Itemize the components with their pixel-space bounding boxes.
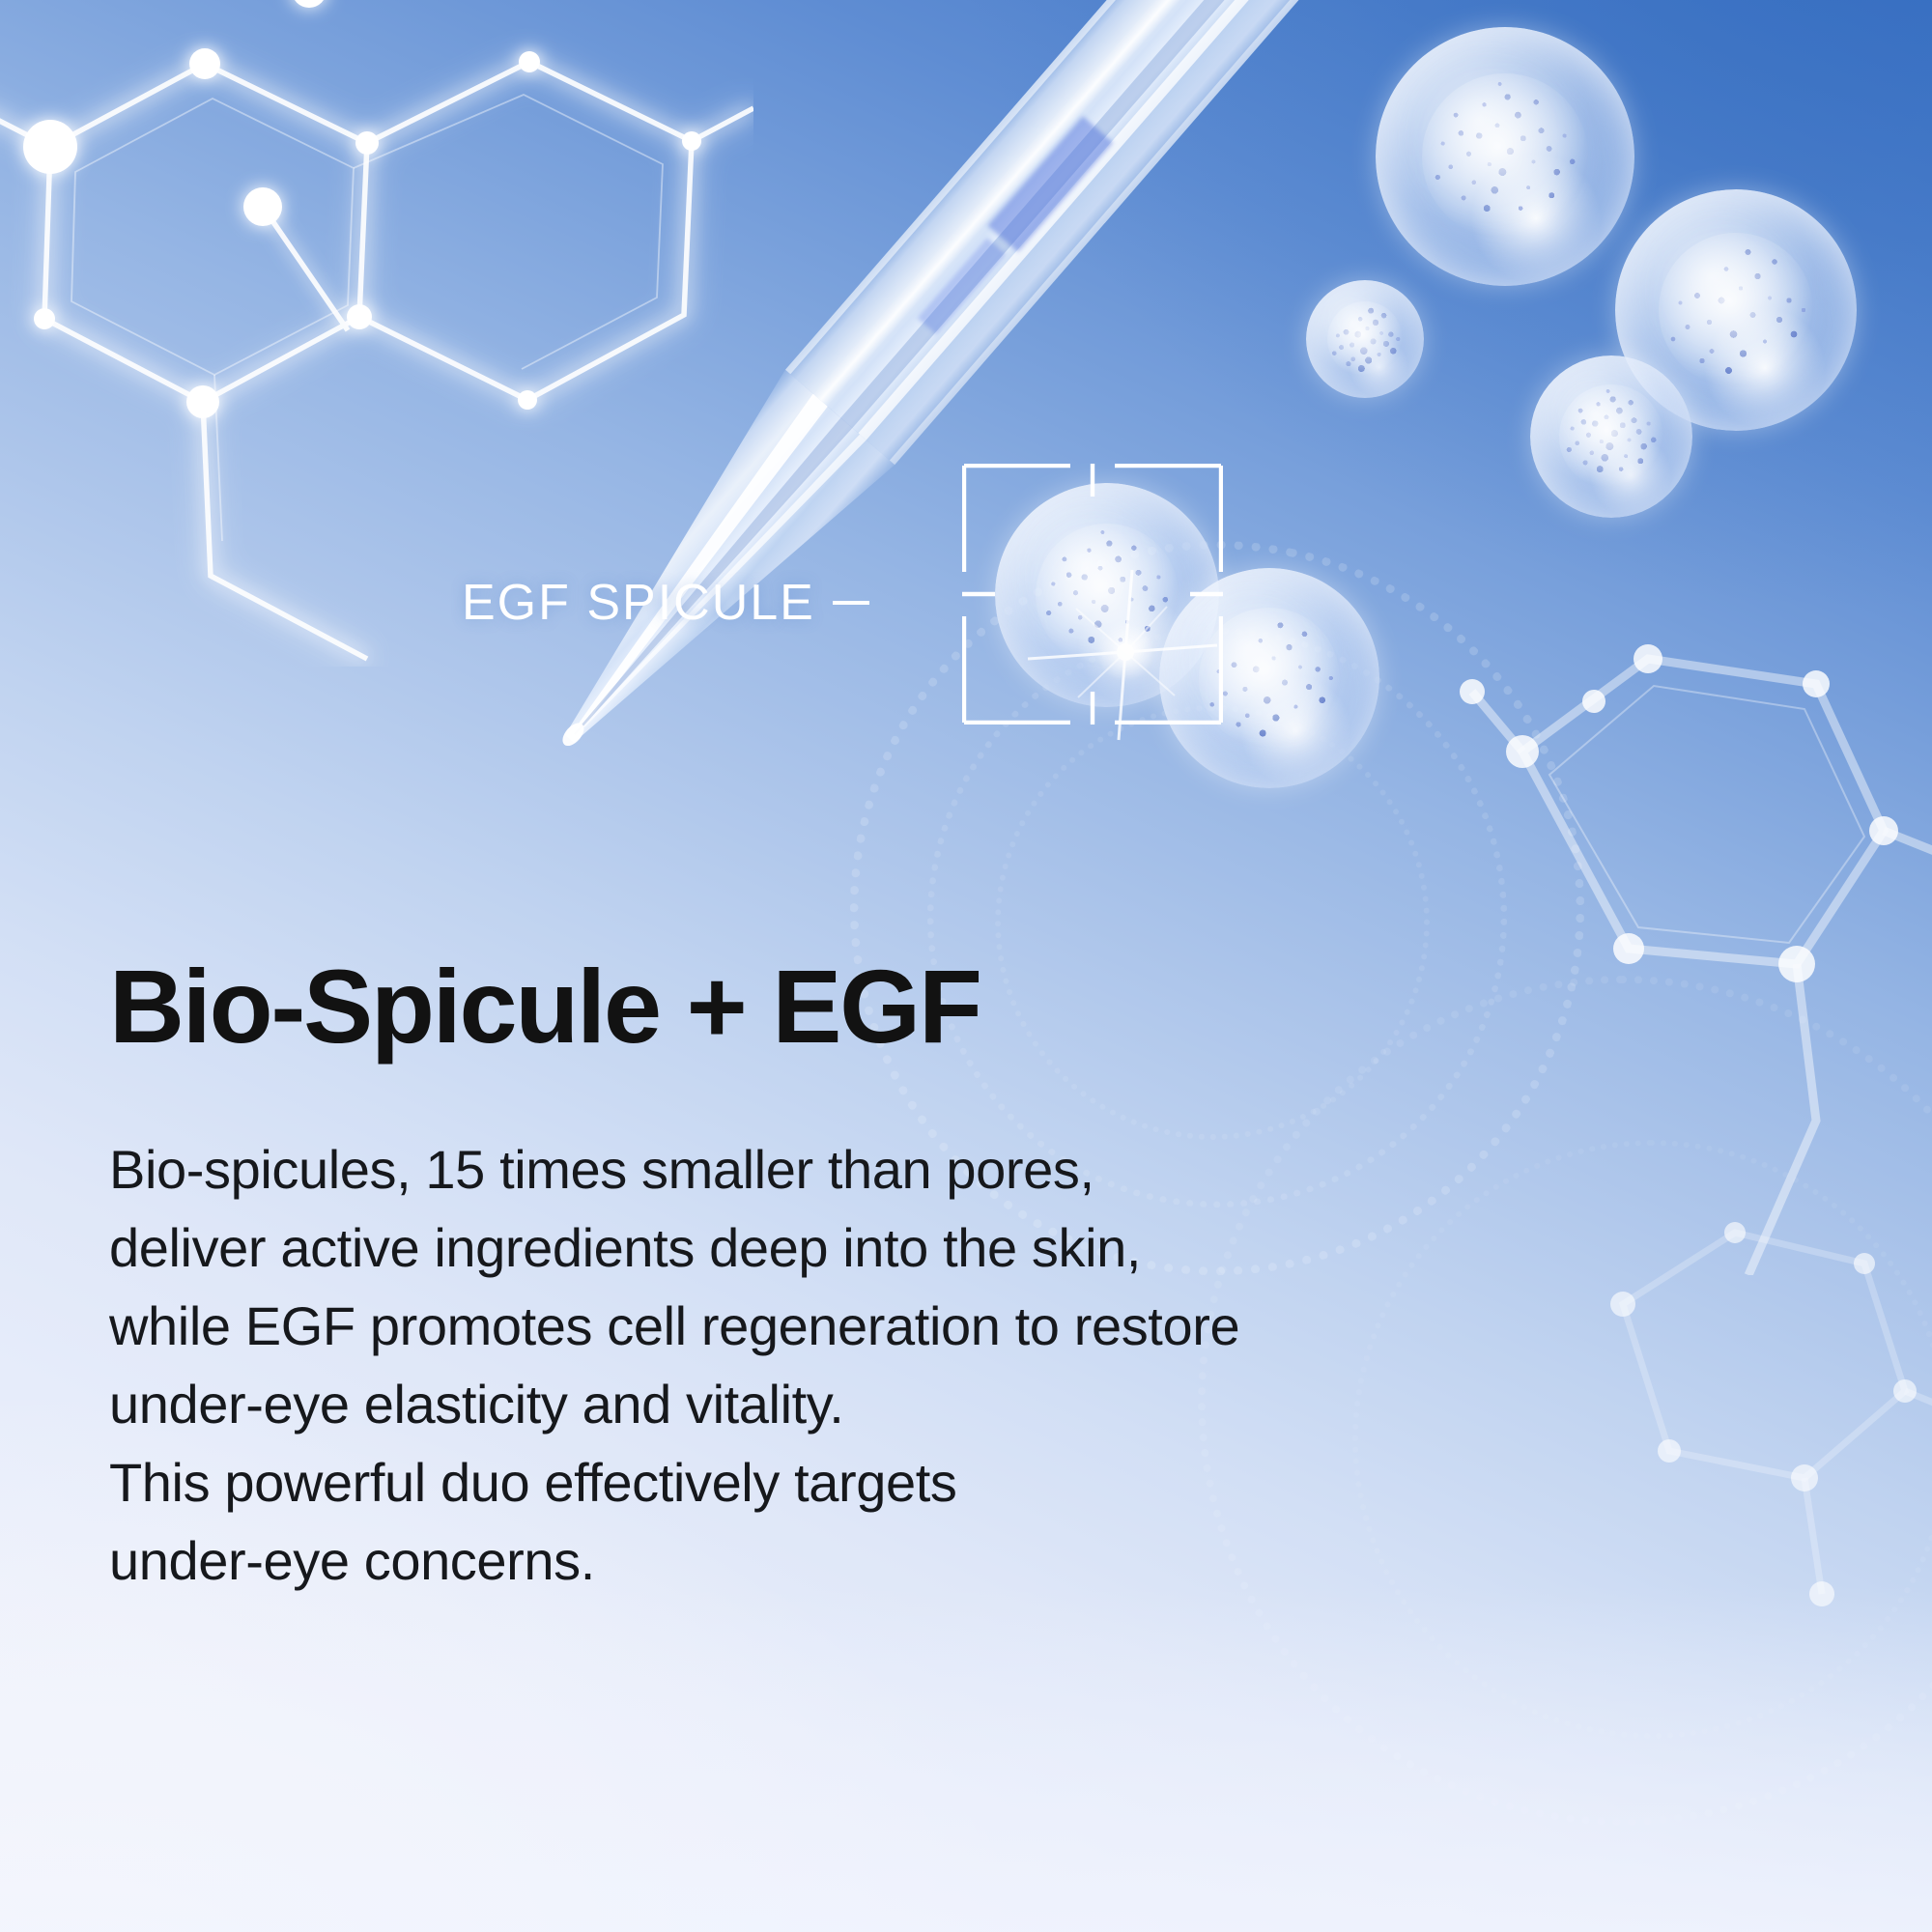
translucent-speckled-sphere xyxy=(1530,355,1692,518)
body-paragraph: Bio-spicules, 15 times smaller than pore… xyxy=(109,1131,1848,1600)
body-line: while EGF promotes cell regeneration to … xyxy=(109,1288,1848,1366)
page-title: Bio-Spicule + EGF xyxy=(109,952,1848,1061)
crosshair-target-frame-icon xyxy=(962,464,1223,724)
body-line: under-eye elasticity and vitality. xyxy=(109,1366,1848,1444)
infographic-canvas: EGF SPICULE Bio-Spicule + EGF Bio-spicul… xyxy=(0,0,1932,1932)
body-line: This powerful duo effectively targets xyxy=(109,1444,1848,1522)
horizontal-line-connector-icon xyxy=(833,601,869,605)
bottom-fade-overlay xyxy=(0,1584,1932,1932)
translucent-speckled-sphere xyxy=(1306,280,1424,398)
body-line: deliver active ingredients deep into the… xyxy=(109,1209,1848,1288)
body-line: Bio-spicules, 15 times smaller than pore… xyxy=(109,1131,1848,1209)
callout-label: EGF SPICULE xyxy=(462,578,869,628)
callout-label-text: EGF SPICULE xyxy=(462,578,815,628)
copy-block: Bio-Spicule + EGF Bio-spicules, 15 times… xyxy=(109,952,1848,1601)
translucent-speckled-sphere xyxy=(1376,27,1634,286)
